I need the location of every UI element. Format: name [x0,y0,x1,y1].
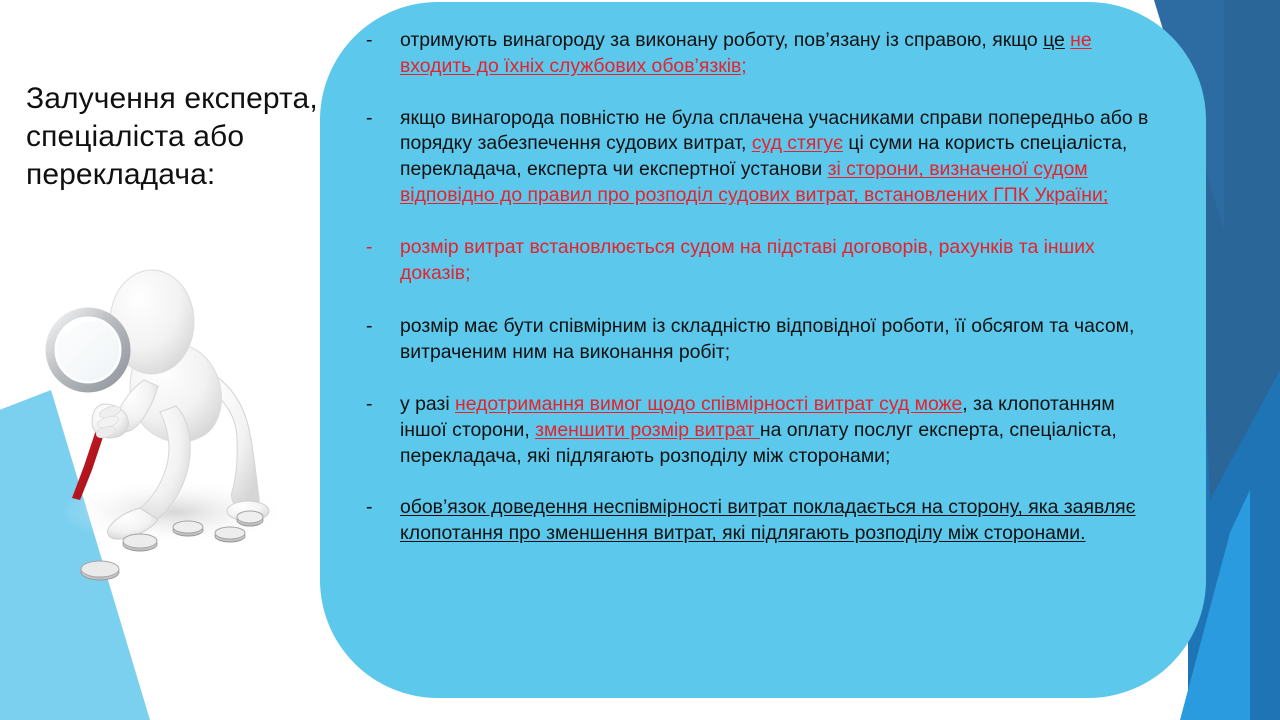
text-run: розмір має бути співмірним із складністю… [400,315,1134,363]
bullet-marker: - [366,235,400,261]
text-run: обов’язок доведення неспівмірності витра… [400,496,1136,544]
magnifying-glass-figure-illustration [40,262,290,607]
text-run: суд стягує [752,132,843,154]
bullet-item: -у разі недотримання вимог щодо співмірн… [366,392,1180,469]
bullet-text: якщо винагорода повністю не була сплачен… [400,106,1152,209]
bullet-marker: - [366,392,400,418]
bullet-text: розмір має бути співмірним із складністю… [400,314,1152,366]
slide-canvas: Залучення експерта, спеціаліста або пере… [0,0,1280,720]
bullet-item: -отримують винагороду за виконану роботу… [366,28,1180,80]
bullet-item: -розмір витрат встановлюється судом на п… [366,235,1180,287]
text-run: зменшити розмір витрат [535,419,760,441]
text-run: недотримання вимог щодо співмірності вит… [455,393,962,415]
bullet-text: отримують винагороду за виконану роботу,… [400,28,1152,80]
bullet-marker: - [366,106,400,132]
text-run: отримують винагороду за виконану роботу,… [400,29,1043,51]
bullet-marker: - [366,495,400,521]
bullet-text: обов’язок доведення неспівмірності витра… [400,495,1152,547]
content-panel: -отримують винагороду за виконану роботу… [320,2,1206,698]
bullet-item: -розмір має бути співмірним із складніст… [366,314,1180,366]
slide-title: Залучення експерта, спеціаліста або пере… [26,80,326,194]
text-run: це [1043,29,1065,51]
text-run: у разі [400,393,455,415]
text-run: розмір витрат встановлюється судом на пі… [400,236,1095,284]
bullet-item: -якщо винагорода повністю не була сплаче… [366,106,1180,209]
bullet-marker: - [366,28,400,54]
bullet-item: -обов’язок доведення неспівмірності витр… [366,495,1180,547]
bullet-list: -отримують винагороду за виконану роботу… [366,28,1180,547]
bullet-text: розмір витрат встановлюється судом на пі… [400,235,1152,287]
bullet-marker: - [366,314,400,340]
bullet-text: у разі недотримання вимог щодо співмірно… [400,392,1152,469]
